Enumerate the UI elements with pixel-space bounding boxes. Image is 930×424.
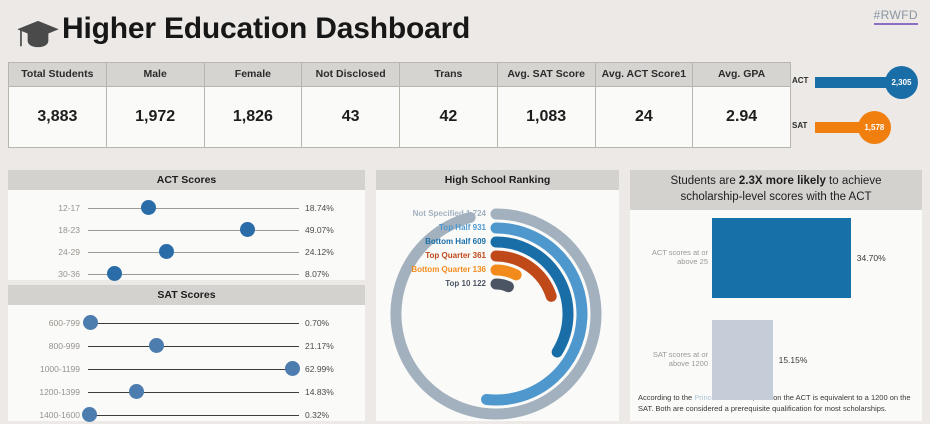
act-scores-panel: ACT Scores 12-1718.74%18-2349.07%24-2924… [8, 170, 365, 280]
score-range-track [88, 230, 299, 231]
score-range-value: 0.70% [301, 318, 359, 328]
score-range-label: 24-29 [8, 247, 80, 257]
radial-arc[interactable] [496, 270, 516, 275]
score-range-value: 0.32% [301, 410, 359, 420]
score-range-value: 21.17% [301, 341, 359, 351]
score-range-value: 62.99% [301, 364, 359, 374]
high-school-ranking-panel: High School Ranking Not Specified 1,724T… [376, 170, 619, 421]
test-taker-row: SAT1,578 [792, 107, 926, 150]
score-range-label: 30-36 [8, 269, 80, 279]
score-range-row: 800-99921.17% [8, 334, 365, 358]
kpi-value: 24 [595, 87, 694, 148]
score-range-track [88, 208, 299, 209]
score-range-marker[interactable] [141, 200, 156, 215]
score-range-value: 24.12% [301, 247, 359, 257]
score-range-marker[interactable] [129, 384, 144, 399]
score-range-marker[interactable] [107, 266, 122, 281]
score-range-track [88, 369, 299, 371]
scholarship-comparison-panel: Students are 2.3X more likely to achieve… [630, 170, 922, 421]
radial-arc-label: Bottom Quarter 136 [411, 265, 486, 274]
comparison-title: Students are 2.3X more likely to achieve… [630, 170, 922, 210]
kpi-column-header: Trans [399, 62, 498, 87]
score-range-row: 30-368.07% [8, 262, 365, 286]
test-taker-row: ACT2,305 [792, 62, 926, 105]
sat-scores-plot: 600-7990.70%800-99921.17%1000-119962.99%… [8, 305, 365, 421]
test-taker-label: ACT [792, 76, 814, 85]
score-range-track [88, 252, 299, 253]
score-range-marker[interactable] [82, 407, 97, 422]
kpi-column-header: Avg. GPA [692, 62, 791, 87]
graduation-cap-icon [14, 18, 62, 50]
score-range-row: 1400-16000.32% [8, 403, 365, 424]
kpi-header-row: Total StudentsMaleFemaleNot DisclosedTra… [8, 62, 790, 87]
score-range-track [88, 392, 299, 394]
radial-arc-label: Top Half 931 [439, 223, 486, 232]
comparison-title-part1: Students are [671, 175, 739, 187]
score-range-row: 24-2924.12% [8, 240, 365, 264]
score-range-value: 14.83% [301, 387, 359, 397]
kpi-value: 43 [301, 87, 400, 148]
act-scores-title: ACT Scores [8, 170, 365, 190]
comparison-label: ACT scores at or above 25 [634, 248, 708, 267]
score-range-track [88, 323, 299, 325]
comparison-bar-chart: According to the Princeton Review, a 25 … [630, 210, 922, 421]
kpi-value: 2.94 [692, 87, 791, 148]
score-range-label: 800-999 [8, 341, 80, 351]
kpi-value: 1,826 [204, 87, 303, 148]
score-range-label: 18-23 [8, 225, 80, 235]
radial-arc-group [376, 190, 619, 421]
kpi-summary-table: Total StudentsMaleFemaleNot DisclosedTra… [8, 62, 790, 148]
comparison-value: 34.70% [857, 253, 886, 263]
test-taker-label: SAT [792, 121, 814, 130]
score-range-row: 1200-139914.83% [8, 380, 365, 404]
test-taker-value: 1,578 [858, 111, 891, 144]
test-taker-value: 2,305 [885, 66, 918, 99]
dashboard-root: Higher Education Dashboard #RWFD Total S… [0, 0, 930, 424]
radial-arc-label: Bottom Half 609 [425, 237, 486, 246]
kpi-value: 1,083 [497, 87, 596, 148]
score-range-track [88, 415, 299, 417]
ranking-title: High School Ranking [376, 170, 619, 190]
score-range-marker[interactable] [83, 315, 98, 330]
score-range-marker[interactable] [159, 244, 174, 259]
rwfd-link[interactable]: #RWFD [874, 8, 918, 25]
kpi-column-header: Female [204, 62, 303, 87]
score-range-label: 600-799 [8, 318, 80, 328]
radial-arc[interactable] [496, 284, 508, 287]
comparison-title-bold: 2.3X more likely [739, 175, 826, 187]
radial-arc-label: Top Quarter 361 [425, 251, 486, 260]
score-range-row: 12-1718.74% [8, 196, 365, 220]
score-range-label: 1000-1199 [8, 364, 80, 374]
score-range-label: 1200-1399 [8, 387, 80, 397]
kpi-column-header: Total Students [8, 62, 107, 87]
sat-scores-panel: SAT Scores 600-7990.70%800-99921.17%1000… [8, 285, 365, 421]
test-taker-lollipop-chart: ACT2,305SAT1,578 [792, 62, 926, 148]
page-title: Higher Education Dashboard [62, 12, 470, 46]
score-range-value: 18.74% [301, 203, 359, 213]
comparison-row: SAT scores at or above 120015.15% [630, 320, 922, 400]
score-range-label: 12-17 [8, 203, 80, 213]
score-range-row: 1000-119962.99% [8, 357, 365, 381]
kpi-value-row: 3,8831,9721,82643421,083242.94 [8, 87, 790, 148]
kpi-value: 42 [399, 87, 498, 148]
comparison-bar[interactable] [712, 320, 773, 400]
score-range-marker[interactable] [285, 361, 300, 376]
comparison-bar[interactable] [712, 218, 851, 298]
kpi-column-header: Avg. SAT Score [497, 62, 596, 87]
score-range-row: 18-2349.07% [8, 218, 365, 242]
radial-arc-label: Not Specified 1,724 [413, 209, 486, 218]
score-range-label: 1400-1600 [8, 410, 80, 420]
score-range-row: 600-7990.70% [8, 311, 365, 335]
score-range-marker[interactable] [240, 222, 255, 237]
comparison-label: SAT scores at or above 1200 [634, 350, 708, 369]
kpi-column-header: Male [106, 62, 205, 87]
score-range-value: 49.07% [301, 225, 359, 235]
comparison-title-part2: to achieve [826, 175, 882, 187]
dashboard-header: Higher Education Dashboard #RWFD [0, 0, 930, 58]
act-scores-plot: 12-1718.74%18-2349.07%24-2924.12%30-368.… [8, 190, 365, 280]
score-range-marker[interactable] [149, 338, 164, 353]
score-range-track [88, 346, 299, 348]
kpi-column-header: Avg. ACT Score1 [595, 62, 694, 87]
comparison-row: ACT scores at or above 2534.70% [630, 218, 922, 298]
radial-arc-label: Top 10 122 [445, 279, 486, 288]
kpi-value: 1,972 [106, 87, 205, 148]
kpi-column-header: Not Disclosed [301, 62, 400, 87]
score-range-value: 8.07% [301, 269, 359, 279]
sat-scores-title: SAT Scores [8, 285, 365, 305]
ranking-radial-chart: Not Specified 1,724Top Half 931Bottom Ha… [376, 190, 619, 421]
comparison-title-part3: scholarship-level scores with the ACT [680, 191, 871, 203]
comparison-value: 15.15% [779, 355, 808, 365]
kpi-value: 3,883 [8, 87, 107, 148]
